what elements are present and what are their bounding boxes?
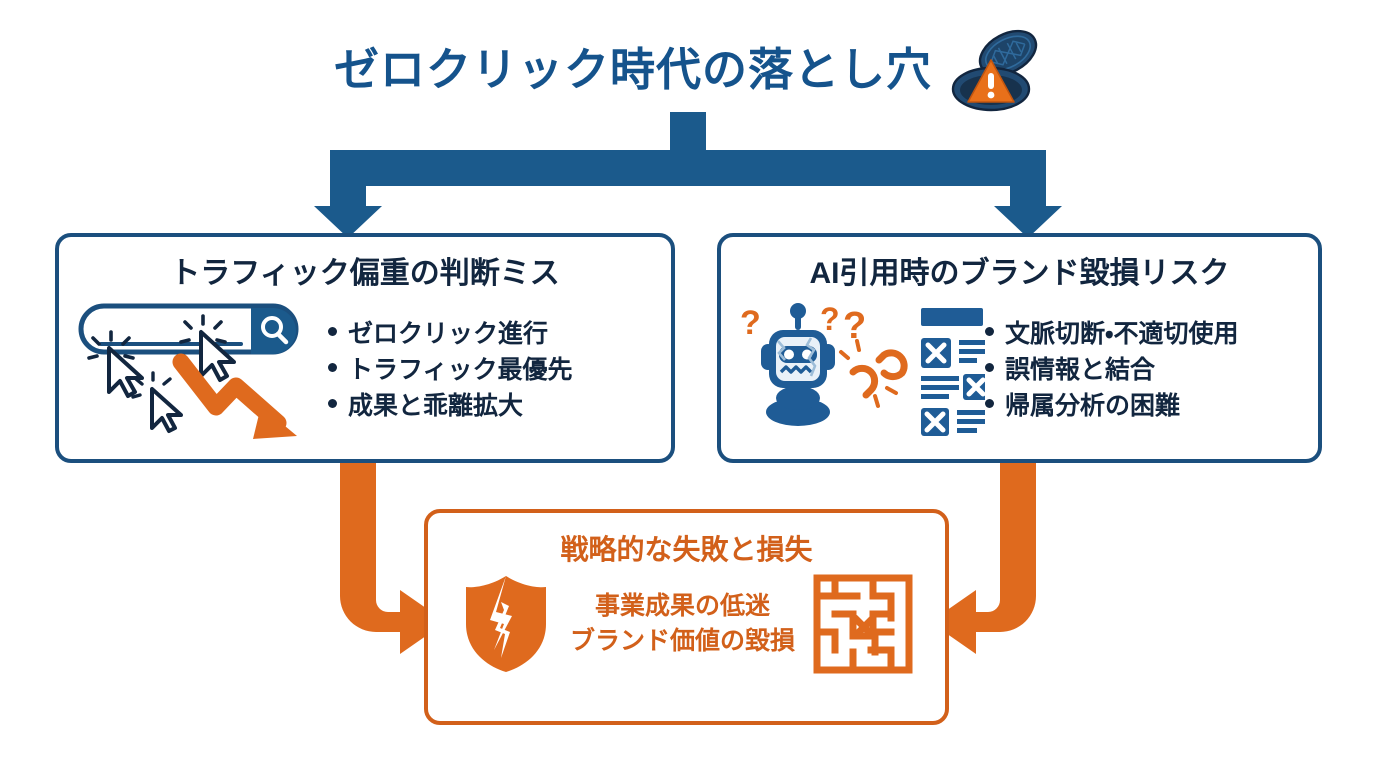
- search-bar-icon: [81, 306, 296, 354]
- broken-chain-link-icon: [841, 341, 904, 406]
- maze-dead-end-icon: [813, 574, 913, 674]
- list-item: トラフィック最優先: [328, 352, 657, 388]
- list-item: 誤情報と結合: [985, 352, 1304, 388]
- bullet-text: 帰属分析の困難: [1005, 388, 1180, 424]
- bullet-text: 文脈切断・不適切使用: [1005, 316, 1239, 352]
- box-strategic-failure: 戦略的な失敗と損失 事業成果の低迷 ブランド価値の毀損: [424, 509, 949, 725]
- list-item: 文脈切断・不適切使用: [985, 316, 1304, 352]
- declining-trend-arrow-icon: [181, 362, 297, 439]
- list-item: ゼロクリック進行: [328, 316, 657, 352]
- title-to-boxes-split-arrow: [314, 112, 1062, 238]
- box-right-body: ? ? ?: [721, 300, 1318, 440]
- svg-text:?: ?: [740, 304, 761, 342]
- robot-document-illustration: ? ? ?: [735, 300, 985, 440]
- box-traffic-bias: トラフィック偏重の判断ミス: [55, 233, 675, 463]
- list-item: 帰属分析の困難: [985, 388, 1304, 424]
- page-title: ゼロクリック時代の落とし穴: [334, 47, 932, 92]
- infographic-canvas: ゼロクリック時代の落とし穴: [0, 0, 1376, 768]
- bullet-dot: [985, 363, 994, 372]
- box-left-artwork: [73, 300, 328, 440]
- bullet-dot: [328, 399, 337, 408]
- bullet-dot: [985, 327, 994, 336]
- document-error-list-icon: [921, 308, 985, 436]
- bullet-text: トラフィック最優先: [348, 352, 573, 388]
- bullet-text: ゼロクリック進行: [348, 316, 548, 352]
- box-bottom-heading: 戦略的な失敗と損失: [428, 535, 945, 566]
- box-ai-brand-risk: AI引用時のブランド毀損リスク ? ? ?: [717, 233, 1322, 463]
- svg-text:?: ?: [843, 305, 866, 347]
- broken-shield-icon: [460, 572, 552, 676]
- box-right-artwork: ? ? ?: [735, 300, 985, 440]
- bullet-dot: [328, 363, 337, 372]
- bottom-line: ブランド価値の毀損: [570, 624, 795, 659]
- box-bottom-body: 事業成果の低迷 ブランド価値の毀損: [428, 572, 945, 676]
- box-left-body: ゼロクリック進行 トラフィック最優先 成果と乖離拡大: [59, 300, 671, 440]
- bullet-text: 成果と乖離拡大: [348, 388, 523, 424]
- box-right-heading: AI引用時のブランド毀損リスク: [721, 257, 1318, 290]
- box-left-heading: トラフィック偏重の判断ミス: [59, 257, 671, 290]
- box-left-bullet-list: ゼロクリック進行 トラフィック最優先 成果と乖離拡大: [328, 316, 657, 425]
- search-decline-illustration: [73, 300, 328, 440]
- svg-text:?: ?: [820, 301, 840, 337]
- box-right-bullet-list: 文脈切断・不適切使用 誤情報と結合 帰属分析の困難: [985, 316, 1304, 425]
- box-bottom-text-lines: 事業成果の低迷 ブランド価値の毀損: [570, 589, 795, 658]
- open-manhole-warning-icon: [946, 23, 1042, 115]
- bullet-text: 誤情報と結合: [1005, 352, 1155, 388]
- cursor-click-icon: [133, 373, 181, 431]
- bullet-dot: [985, 399, 994, 408]
- list-item: 成果と乖離拡大: [328, 388, 657, 424]
- bullet-dot: [328, 327, 337, 336]
- title-row: ゼロクリック時代の落とし穴: [0, 26, 1376, 112]
- bottom-line: 事業成果の低迷: [570, 589, 795, 624]
